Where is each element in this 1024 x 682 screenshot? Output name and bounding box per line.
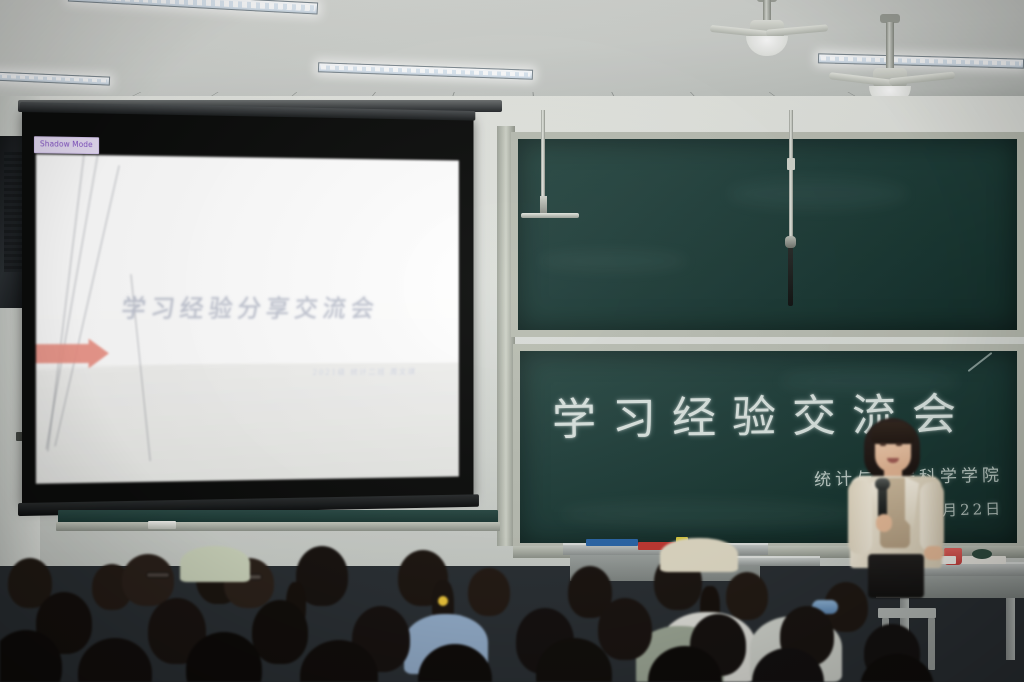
- student-head: [468, 568, 510, 616]
- student-head: [78, 638, 152, 682]
- student-head: [598, 598, 652, 660]
- hanging-microphone: [788, 240, 793, 306]
- student-head: [726, 572, 768, 620]
- student-head: [252, 600, 308, 664]
- classroom-photo: 学习经验分享交流会 2021级 统计二班 周文琪 Shadow Mode 学习经…: [0, 0, 1024, 682]
- ceiling-light-fixture: [0, 71, 110, 85]
- audience: [0, 520, 1024, 682]
- slide-title: 学习经验分享交流会: [36, 289, 459, 325]
- projected-slide: 学习经验分享交流会 2021级 统计二班 周文琪: [36, 154, 459, 484]
- student-shoulders: [180, 546, 250, 582]
- slide-subtitle: 2021级 统计二班 周文琪: [312, 366, 417, 377]
- presenter-eye: [880, 443, 886, 446]
- projector-mount-rod: [789, 110, 793, 242]
- mic-mount: [785, 236, 796, 248]
- student-shoulders: [660, 538, 738, 572]
- projection-screen: 学习经验分享交流会 2021级 统计二班 周文琪 Shadow Mode: [22, 108, 473, 506]
- ceiling-fan: [722, 0, 812, 46]
- blackboard-upper-panel: [511, 132, 1024, 337]
- student-badge: [438, 596, 448, 606]
- ceiling-light-fixture: [318, 62, 533, 79]
- chalk-stroke: [968, 352, 993, 372]
- board-clip-bracket: [521, 213, 579, 218]
- microphone-head: [875, 478, 890, 490]
- projector-light-area: [36, 154, 459, 365]
- shadow-mode-badge: Shadow Mode: [34, 136, 99, 153]
- eyeglasses: [146, 572, 170, 578]
- ceiling-light-fixture: [68, 0, 318, 15]
- presenter-fringe: [871, 422, 915, 444]
- student-head-profile: [122, 554, 174, 606]
- rod-collar: [787, 158, 795, 170]
- presenter-eye: [896, 443, 902, 446]
